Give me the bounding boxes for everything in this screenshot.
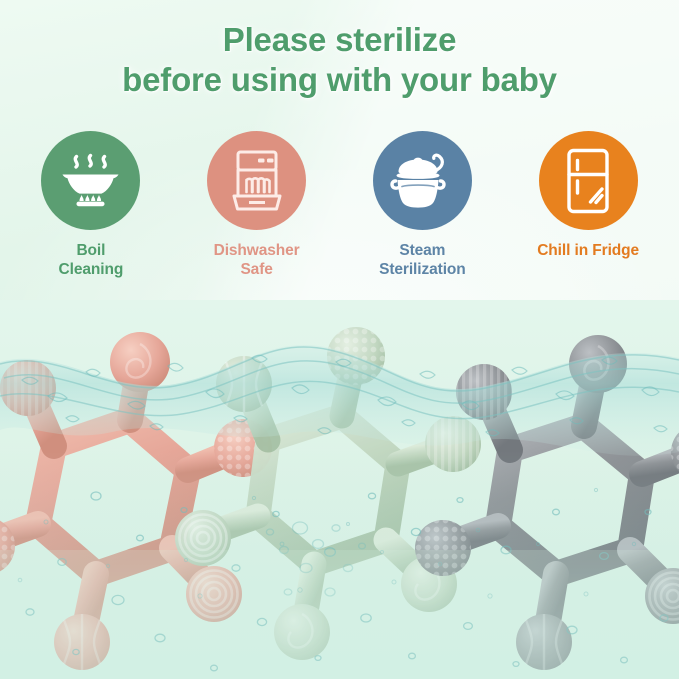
feature-boil-cleaning[interactable]: Boil Cleaning <box>15 131 167 280</box>
boil-cleaning-badge <box>41 131 140 230</box>
teethers-in-water-photo <box>0 300 679 679</box>
headline-line-1: Please sterilize <box>0 20 679 60</box>
pot-with-steam-icon <box>60 151 122 211</box>
dishwasher-safe-badge <box>207 131 306 230</box>
headline-line-2: before using with your baby <box>0 60 679 100</box>
infographic-page: Please sterilize before using with your … <box>0 0 679 679</box>
feature-steam-sterilization[interactable]: Steam Sterilization <box>346 131 498 280</box>
feature-label-boil-cleaning: Boil Cleaning <box>59 242 124 280</box>
feature-chill-in-fridge[interactable]: Chill in Fridge <box>512 131 664 261</box>
feature-label-chill-in-fridge: Chill in Fridge <box>537 242 639 261</box>
feature-list: Boil Cleaning <box>0 131 679 280</box>
feature-label-dishwasher-safe: Dishwasher Safe <box>214 242 300 280</box>
headline: Please sterilize before using with your … <box>0 20 679 100</box>
feature-dishwasher-safe[interactable]: Dishwasher Safe <box>181 131 333 280</box>
lidded-pot-steam-icon <box>390 151 454 211</box>
scene-graphics <box>0 300 679 679</box>
chill-in-fridge-badge <box>539 131 638 230</box>
steam-sterilization-badge <box>373 131 472 230</box>
feature-label-steam-sterilization: Steam Sterilization <box>379 242 466 280</box>
refrigerator-icon <box>566 148 610 214</box>
dishwasher-icon <box>228 150 286 212</box>
